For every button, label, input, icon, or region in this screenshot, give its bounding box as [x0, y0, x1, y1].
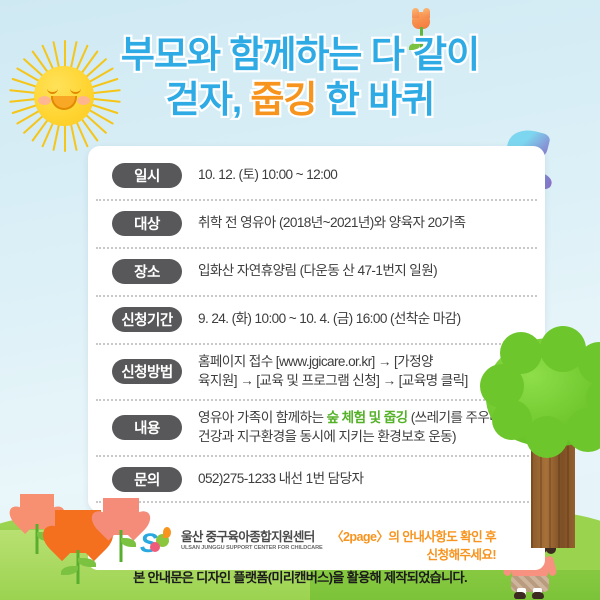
heart-flower-stem	[120, 530, 123, 562]
info-row-label: 신청방법	[112, 359, 182, 384]
poster-title: 부모와 함께하는 다 같이 걷자, 줍깅 한 바퀴	[0, 32, 600, 122]
title-line-1: 부모와 함께하는 다 같이	[121, 34, 479, 75]
info-row-label: 문의	[112, 467, 182, 492]
callout-line-2: 신청해주세요!	[300, 546, 496, 564]
tree-icon	[486, 338, 600, 548]
heart-flower-leaf-left	[61, 566, 78, 575]
info-row-value-line-1: 홈페이지 접수 [www.jgicare.or.kr] → [가정양	[198, 352, 468, 371]
page-notice-callout: 〈2page〉의 안내사항도 확인 후 신청해주세요!	[300, 528, 496, 565]
info-card: 일시10. 12. (토) 10:00 ~ 12:00대상취학 전 영유아 (2…	[88, 146, 545, 512]
info-row-value: 9. 24. (화) 10:00 ~ 10. 4. (금) 16:00 (선착순…	[198, 309, 461, 328]
info-row-label: 신청기간	[112, 307, 182, 332]
info-row-value: 홈페이지 접수 [www.jgicare.or.kr] → [가정양육지원] →…	[198, 352, 468, 391]
title-line-2: 걷자, 줍깅 한 바퀴	[0, 77, 600, 122]
logo-dot-pink	[150, 542, 160, 552]
title-line-2-pre: 걷자,	[166, 79, 251, 120]
info-row-label: 내용	[112, 415, 182, 440]
info-row-value: 영유아 가족이 함께하는 숲 체험 및 줍깅 (쓰레기를 주우며건강과 지구환경…	[198, 408, 501, 447]
info-row-label: 일시	[112, 163, 182, 188]
info-row: 내용영유아 가족이 함께하는 숲 체험 및 줍깅 (쓰레기를 주우며건강과 지구…	[88, 399, 545, 455]
tree-leaf-5	[500, 332, 542, 374]
title-line-2-post: 한 바퀴	[317, 79, 435, 120]
info-row-value: 052)275-1233 내선 1번 담당자	[198, 469, 363, 488]
title-highlight: 줍깅	[250, 79, 316, 120]
info-row-label: 대상	[112, 211, 182, 236]
info-row-value-line-1: 영유아 가족이 함께하는 숲 체험 및 줍깅 (쓰레기를 주우며	[198, 408, 501, 427]
info-row-value: 취학 전 영유아 (2018년~2021년)와 양육자 20가족	[198, 213, 465, 232]
logo-dot-orange	[163, 527, 171, 538]
info-row: 문의052)275-1233 내선 1번 담당자	[88, 455, 545, 503]
poster-canvas: 부모와 함께하는 다 같이 걷자, 줍깅 한 바퀴 일시10. 12. (토) …	[0, 0, 600, 600]
info-row: 대상취학 전 영유아 (2018년~2021년)와 양육자 20가족	[88, 199, 545, 247]
info-row: 장소입화산 자연휴양림 (다운동 산 47-1번지 일원)	[88, 247, 545, 295]
info-row-value: 10. 12. (토) 10:00 ~ 12:00	[198, 165, 337, 184]
info-row-value-line-2: 건강과 지구환경을 동시에 지키는 환경보호 운동)	[198, 427, 501, 446]
info-row: 신청방법홈페이지 접수 [www.jgicare.or.kr] → [가정양육지…	[88, 343, 545, 399]
organization-logo: S 울산 중구육아종합지원센터 ULSAN JUNGGU SUPPORT CEN…	[140, 526, 323, 556]
value-emphasis: 숲 체험 및 줍깅	[327, 410, 408, 425]
info-row: 신청기간9. 24. (화) 10:00 ~ 10. 4. (금) 16:00 …	[88, 295, 545, 343]
tree-leaf-3	[526, 416, 568, 458]
info-row-label: 장소	[112, 259, 182, 284]
info-row: 일시10. 12. (토) 10:00 ~ 12:00	[88, 151, 545, 199]
heart-flower-icon	[103, 498, 139, 560]
info-row-value-line-2: 육지원] → [교육 및 프로그램 신청] → [교육명 클릭]	[198, 371, 468, 390]
logo-mark-icon: S	[140, 526, 174, 556]
callout-line-1: 〈2page〉의 안내사항도 확인 후	[300, 528, 496, 546]
value-pre: 영유아 가족이 함께하는	[198, 410, 327, 425]
info-row-value: 입화산 자연휴양림 (다운동 산 47-1번지 일원)	[198, 261, 437, 280]
